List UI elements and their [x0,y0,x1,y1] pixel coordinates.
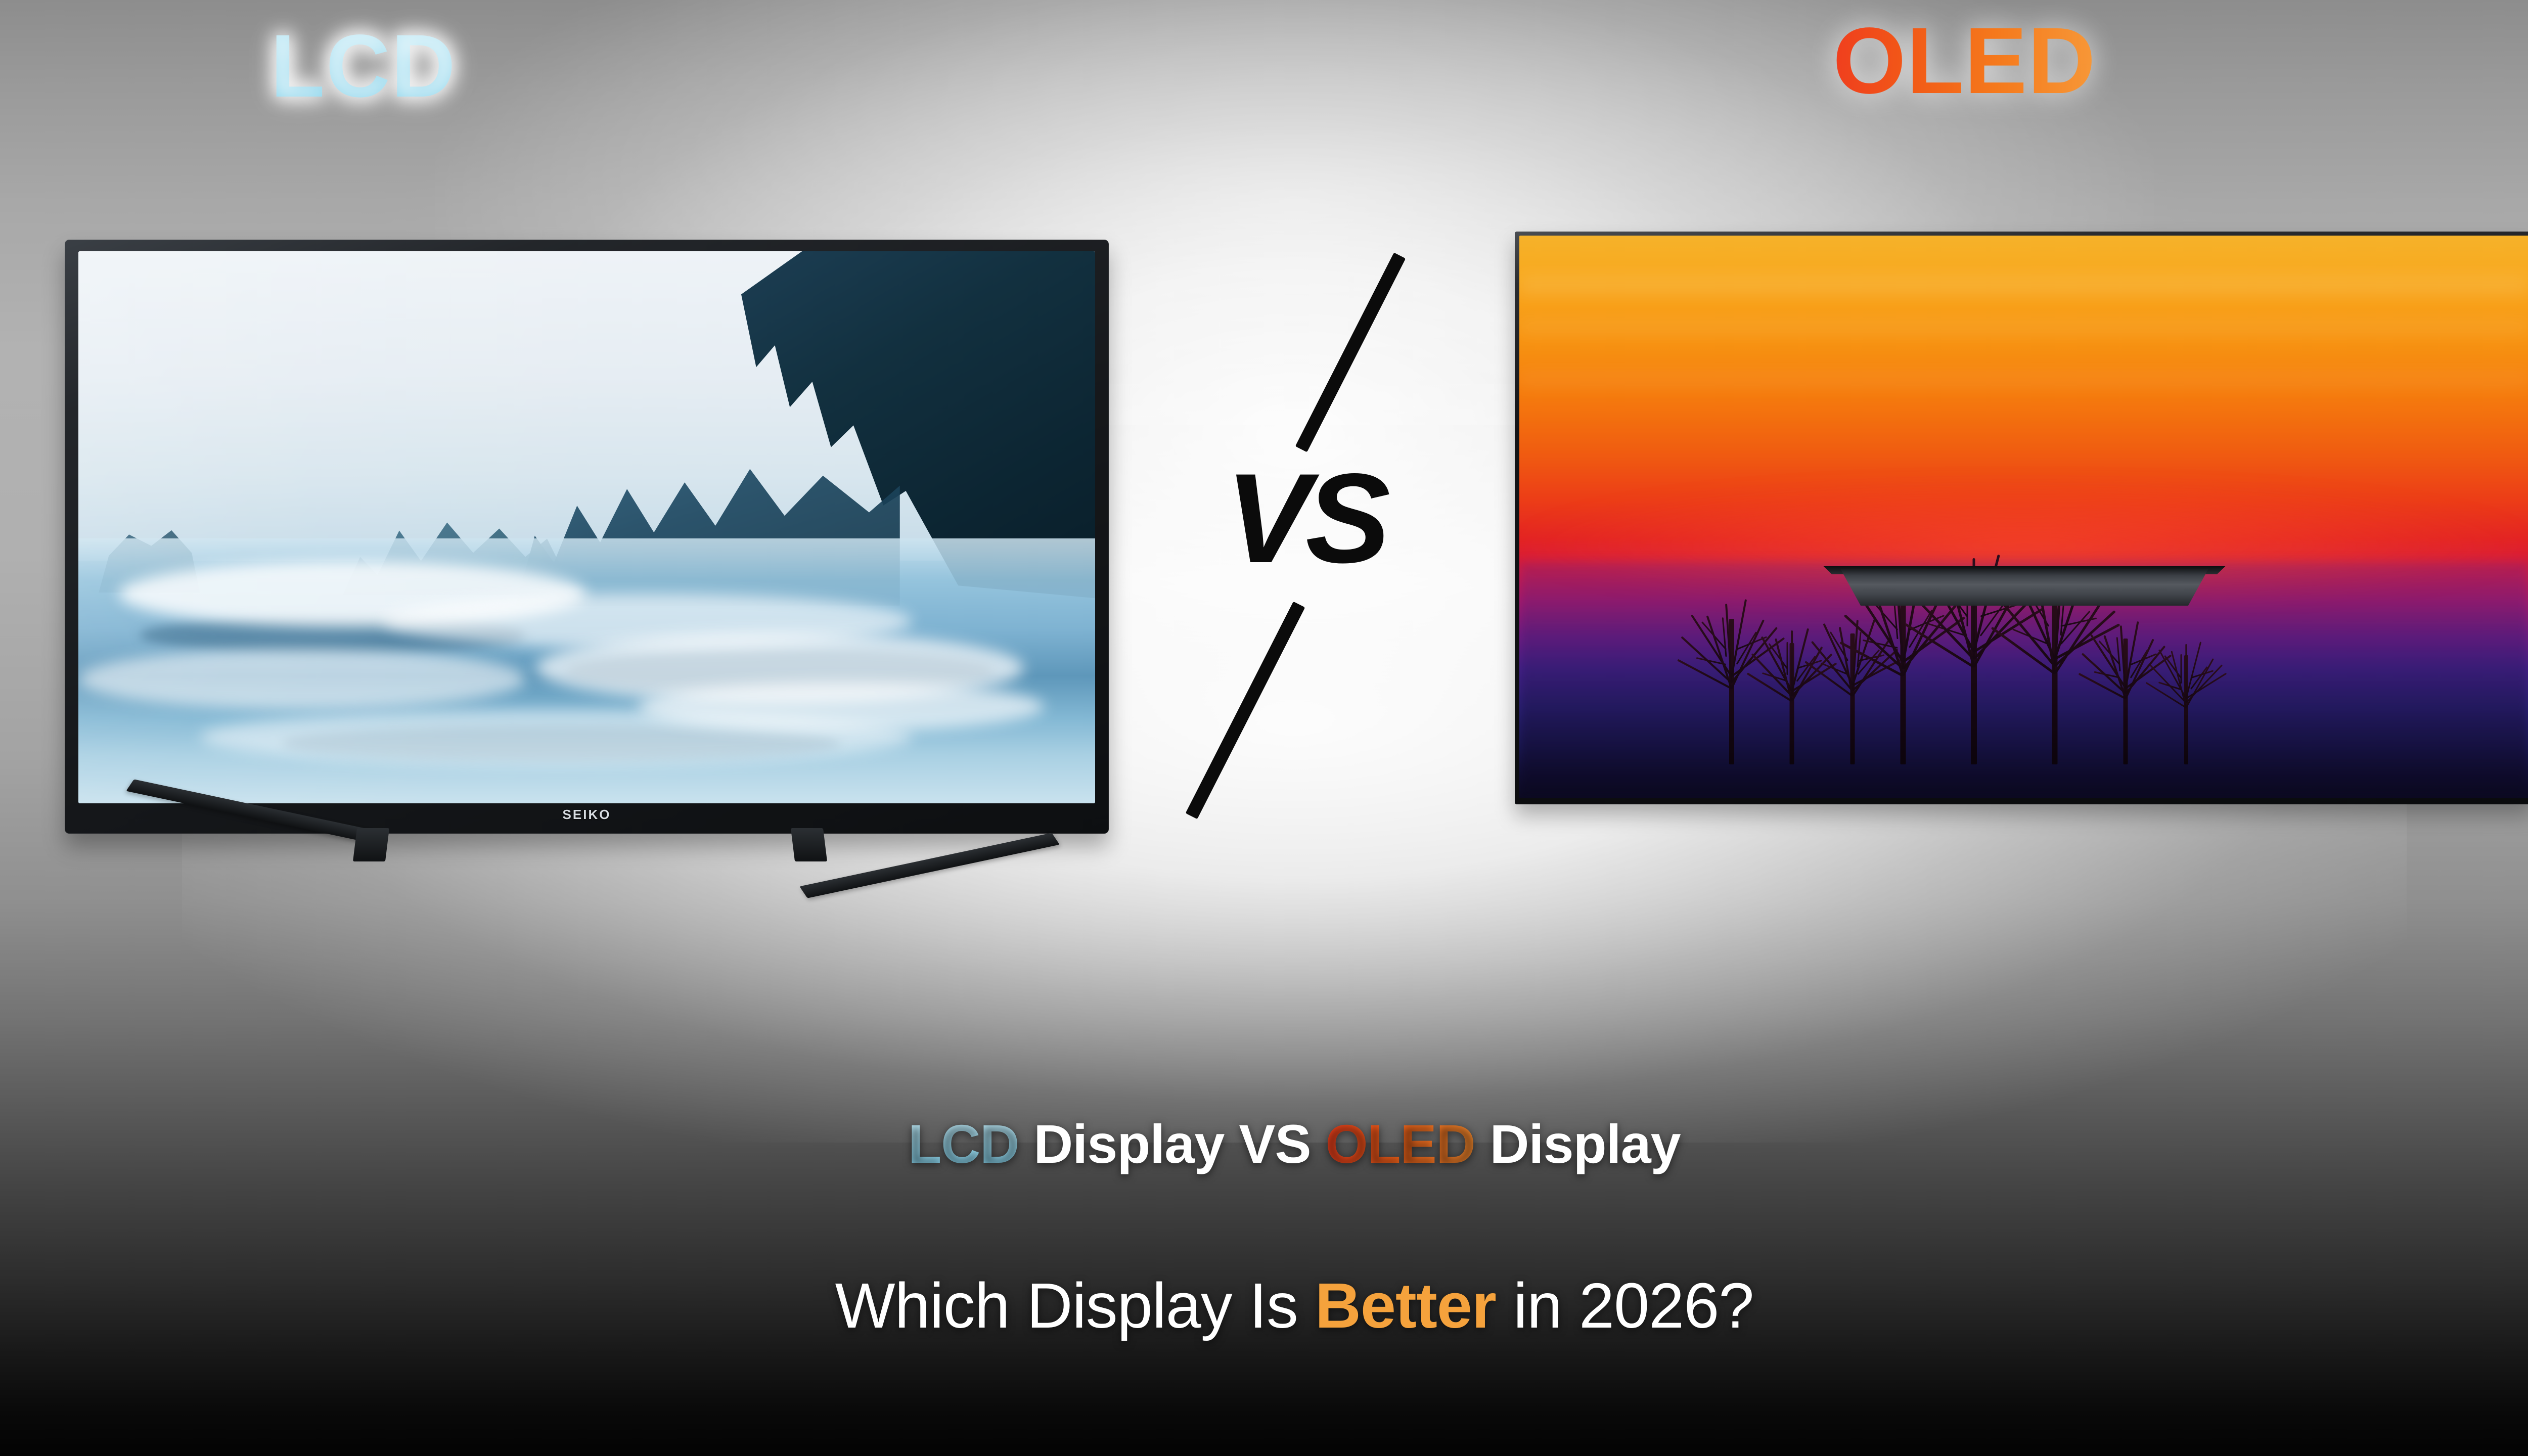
oled-tv-stand [1825,569,2224,606]
caption1-tail: Display [1475,1113,1681,1174]
caption-line-1: LCD Display VS OLED Display [0,1112,2528,1175]
oled-tv-screen [1519,236,2528,798]
caption2-highlight: Better [1315,1270,1496,1341]
caption1-mid: Display VS [1019,1113,1325,1174]
lcd-tv-foot-left [124,830,382,891]
lcd-tv-screen [78,251,1095,803]
tree-twig [2181,654,2182,684]
lcd-tv-foot-right [798,830,1056,891]
lcd-scene-foam [78,649,526,709]
oled-scene-tree [1701,613,1762,764]
lcd-heading: LCD [270,15,457,117]
caption-line-2: Which Display Is Better in 2026? [0,1269,2528,1342]
oled-scene-tree [1764,638,1820,764]
lcd-foot-slant [799,833,1060,898]
caption1-oled: OLED [1326,1113,1475,1174]
caption2-lead: Which Display Is [835,1270,1315,1341]
poster-canvas: LCD OLED SEIKO [0,0,2528,1456]
oled-tv [1515,232,2528,804]
caption1-lcd: LCD [908,1113,1019,1174]
lcd-foot-post [353,828,389,861]
oled-scene-tree [2096,633,2154,764]
tree-twig [2116,637,2121,671]
lcd-foot-post [791,828,827,861]
oled-scene-cloud-band [1519,275,2528,295]
lcd-scene-foam [638,682,1044,732]
versus-label: VS [1189,455,1422,582]
caption2-tail: in 2026? [1496,1270,1753,1341]
oled-scene-cloud-band [1519,320,2528,334]
oled-scene-tree [2159,651,2213,764]
lcd-tv-brand-label: SEIKO [563,807,611,823]
oled-scene-cloud-band [1519,371,2528,387]
oled-heading: OLED [1833,7,2096,115]
oled-scene-tree [1870,587,1936,764]
divider-slash-top [1295,253,1406,452]
lcd-tv: SEIKO [65,240,1109,834]
divider-slash-bottom [1186,602,1305,820]
tree-twig [1786,642,1788,675]
versus-divider: VS [1143,212,1456,849]
tree-trunk [1901,595,1906,764]
